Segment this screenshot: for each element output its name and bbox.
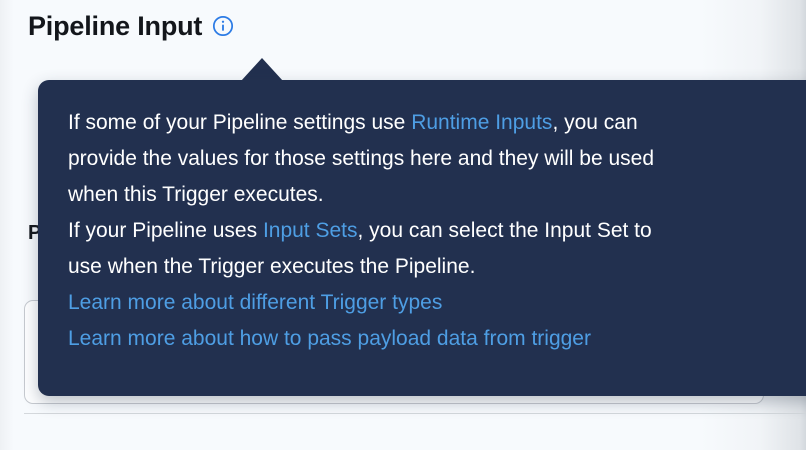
tooltip-content: If some of your Pipeline settings use Ru… xyxy=(68,105,800,357)
tooltip-text: If your Pipeline uses xyxy=(68,219,263,242)
tooltip-learn-more-link-1[interactable]: Learn more about different Trigger types xyxy=(68,285,800,321)
tooltip-text: If some of your Pipeline settings use xyxy=(68,111,411,134)
inline-link[interactable]: Runtime Inputs xyxy=(411,111,552,134)
tooltip-text: , you can select the Input Set to xyxy=(358,219,652,242)
tooltip-arrow xyxy=(241,58,283,81)
tooltip-learn-more-link-2[interactable]: Learn more about how to pass payload dat… xyxy=(68,321,800,357)
tooltip-text: , you can xyxy=(552,111,637,134)
inline-link[interactable]: Input Sets xyxy=(263,219,358,242)
tooltip-paragraph2-line: use when the Trigger executes the Pipeli… xyxy=(68,249,800,285)
section-divider xyxy=(24,413,806,414)
tooltip-paragraph1-line: provide the values for those settings he… xyxy=(68,141,800,177)
info-tooltip: If some of your Pipeline settings use Ru… xyxy=(38,58,806,396)
info-circle-icon[interactable] xyxy=(212,15,234,37)
tooltip-paragraph1-line: when this Trigger executes. xyxy=(68,177,800,213)
tooltip-text: use when the Trigger executes the Pipeli… xyxy=(68,255,475,278)
tooltip-paragraph2-line: If your Pipeline uses Input Sets, you ca… xyxy=(68,213,800,249)
tooltip-paragraph1-line: If some of your Pipeline settings use Ru… xyxy=(68,105,800,141)
page-title: Pipeline Input xyxy=(28,10,202,42)
tooltip-text: provide the values for those settings he… xyxy=(68,147,654,170)
panel-header: Pipeline Input xyxy=(28,10,234,42)
screen-root: Pipeline Input P If some of your Pipelin… xyxy=(0,0,806,450)
tooltip-text: when this Trigger executes. xyxy=(68,183,324,206)
tooltip-body: If some of your Pipeline settings use Ru… xyxy=(38,80,806,396)
